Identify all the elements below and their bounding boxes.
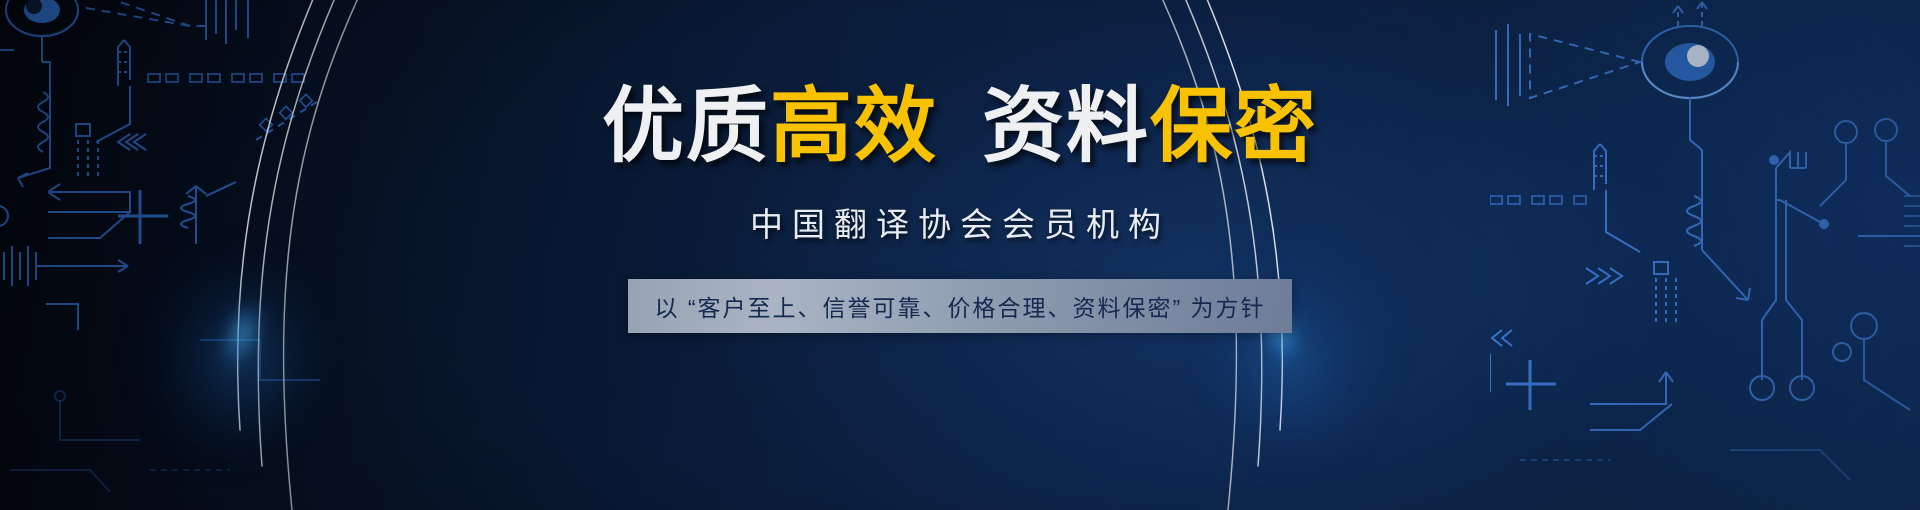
headline-segment-3: 资料 xyxy=(982,81,1150,172)
banner-subtitle: 中国翻译协会会员机构 xyxy=(750,198,1170,246)
tagline-bar: 以 “客户至上、信誉可靠、价格合理、资料保密” 为方针 xyxy=(628,279,1292,333)
banner-content: 优质高效资料保密 中国翻译协会会员机构 以 “客户至上、信誉可靠、价格合理、资料… xyxy=(0,0,1920,510)
headline-segment-1: 优质 xyxy=(602,81,770,172)
headline-segment-4: 保密 xyxy=(1150,81,1318,172)
headline-segment-2: 高效 xyxy=(770,81,938,172)
tagline-text: 以 “客户至上、信誉可靠、价格合理、资料保密” 为方针 xyxy=(654,289,1265,323)
banner-headline: 优质高效资料保密 xyxy=(602,86,1318,168)
hero-banner: 优质高效资料保密 中国翻译协会会员机构 以 “客户至上、信誉可靠、价格合理、资料… xyxy=(0,0,1920,510)
